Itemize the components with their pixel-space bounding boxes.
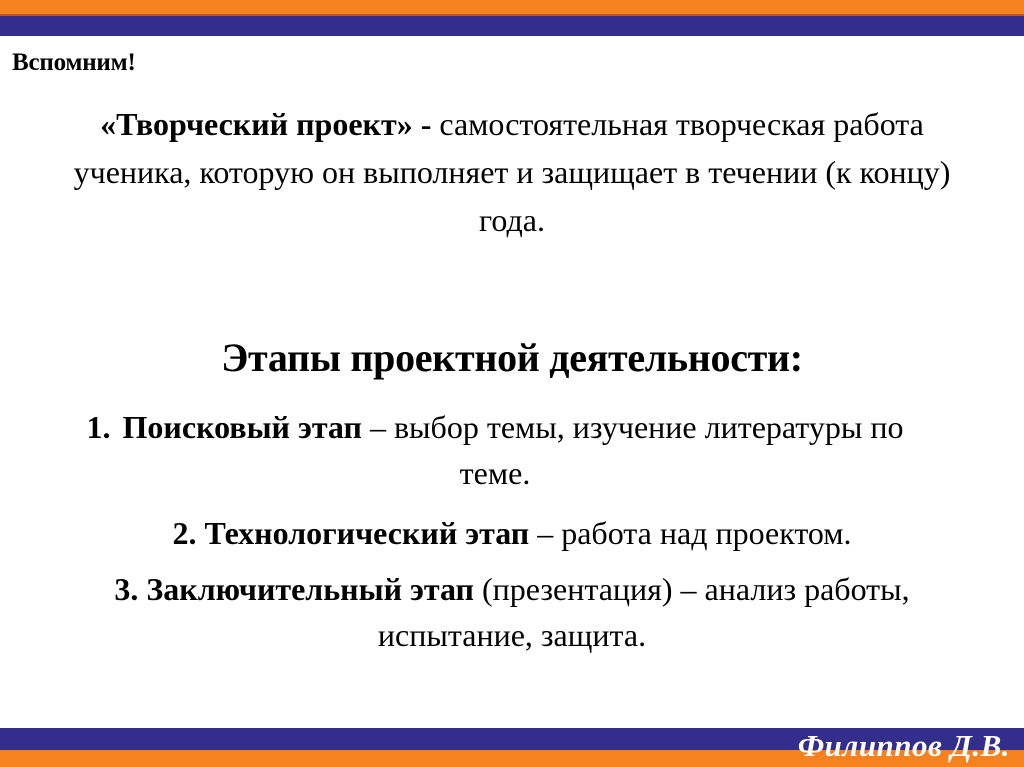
top-blue-band bbox=[0, 16, 1024, 36]
stage-name: Поисковый этап bbox=[123, 409, 362, 445]
list-item: 3. Заключительный этап (презентация) – а… bbox=[60, 566, 964, 658]
stage-description: – работа над проектом. bbox=[529, 515, 851, 551]
stage-name: Заключительный этап bbox=[146, 571, 474, 607]
list-item: 2. Технологический этап – работа над про… bbox=[60, 510, 964, 556]
definition-term: «Творческий проект» - bbox=[100, 106, 431, 142]
stage-number: 2. bbox=[172, 515, 196, 551]
list-item: 1.Поисковый этап – выбор темы, изучение … bbox=[60, 404, 964, 496]
stage-number: 1. bbox=[87, 409, 123, 445]
stage-name: Технологический этап bbox=[204, 515, 529, 551]
stages-heading: Этапы проектной деятельности: bbox=[52, 334, 972, 382]
slide-canvas: Вспомним! «Творческий проект» - самостоя… bbox=[0, 0, 1024, 767]
slide-kicker: Вспомним! bbox=[12, 48, 136, 78]
stage-number: 3. bbox=[114, 571, 138, 607]
author-signature: Филиппов Д.В. bbox=[710, 726, 1010, 766]
stage-description: – выбор темы, изучение литературы по тем… bbox=[362, 409, 904, 491]
top-orange-band bbox=[0, 0, 1024, 14]
stages-list: 1.Поисковый этап – выбор темы, изучение … bbox=[60, 404, 964, 658]
definition-paragraph: «Творческий проект» - самостоятельная тв… bbox=[52, 100, 972, 244]
